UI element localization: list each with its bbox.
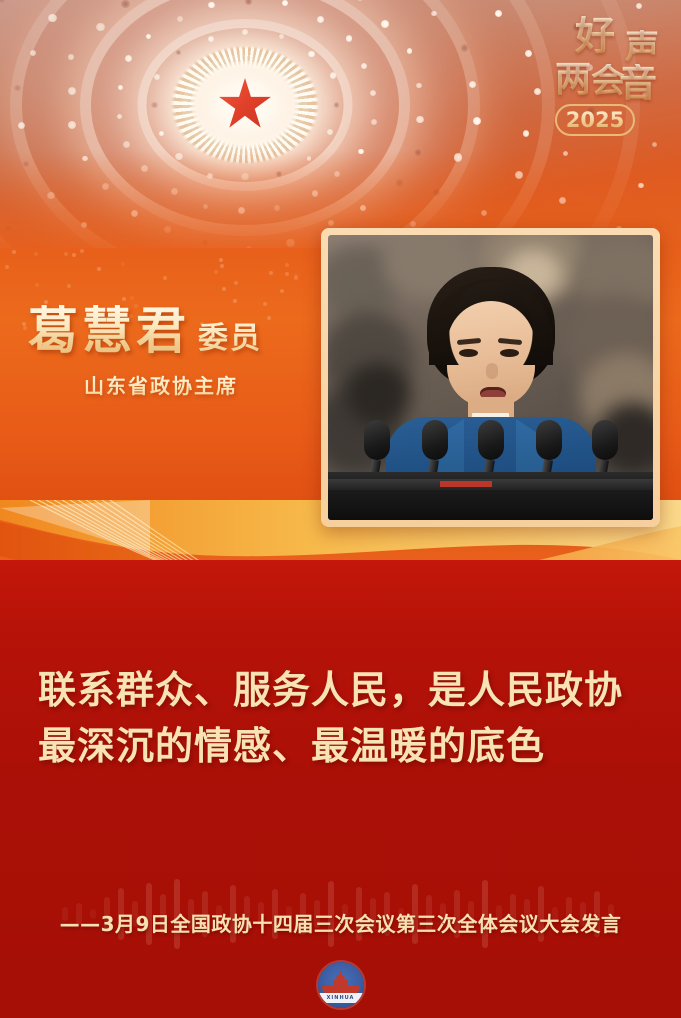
podium-red-accent: [440, 481, 492, 487]
background-speck: [294, 276, 298, 280]
ceiling-light-dot: [125, 55, 133, 63]
ceiling-light-dot: [242, 29, 248, 35]
ceiling-light-dot: [317, 16, 324, 23]
background-speck: [163, 276, 167, 280]
event-caption: ——3月9日全国政协十四届三次会议第三次全体会议大会发言: [0, 908, 681, 937]
ceiling-light-dot: [416, 83, 421, 88]
xinhua-logo-icon: XINHUA: [318, 962, 364, 1008]
ceiling-light-dot: [154, 74, 160, 80]
logo-char-yin: 音: [619, 64, 657, 102]
background-speck: [97, 267, 101, 271]
ceiling-light-dot: [461, 44, 468, 51]
ceiling-light-dot: [48, 14, 56, 22]
background-speck: [67, 284, 71, 288]
ceiling-light-dot: [534, 88, 541, 95]
ceiling-light-dot: [208, 36, 214, 42]
ceiling-light-dot: [159, 131, 164, 136]
background-speck: [285, 263, 289, 267]
logo-year-text: 2025: [566, 108, 624, 132]
ceiling-light-dot: [245, 0, 252, 5]
ceiling-light-dot: [357, 0, 363, 1]
ceiling-light-dot: [279, 34, 284, 39]
ceiling-light-dot: [495, 10, 502, 17]
ceiling-light-dot: [146, 34, 151, 39]
ceiling-light-dot: [346, 35, 353, 42]
background-speck: [5, 265, 9, 269]
ceiling-light-dot: [327, 129, 333, 135]
ceiling-light-dot: [121, 0, 129, 8]
ceiling-light-dot: [151, 102, 158, 109]
background-speck: [285, 272, 289, 276]
ceiling-light-dot: [18, 122, 25, 129]
background-speck: [122, 297, 126, 301]
background-speck: [219, 258, 223, 262]
quote-block: 联系群众、服务人民，是人民政协 最深沉的情感、最温暖的底色: [38, 662, 648, 774]
background-speck: [12, 250, 16, 254]
ceiling-light-dot: [381, 20, 389, 28]
background-speck: [130, 296, 134, 300]
two-sessions-logo: 好 声 两 会 音 2025: [555, 16, 667, 146]
subject-nose: [486, 363, 498, 379]
background-speck: [35, 283, 39, 287]
ceiling-light-dot: [407, 48, 412, 53]
speaker-name: 葛慧君: [28, 305, 190, 358]
ceiling-light-dot: [68, 121, 76, 129]
ceiling-light-dot: [68, 87, 76, 95]
logo-char-liang: 两: [555, 62, 591, 98]
background-speck: [222, 287, 226, 291]
ceiling-light-dot: [416, 116, 423, 123]
ceiling-light-dot: [308, 51, 315, 58]
ceiling-light-dot: [371, 119, 377, 125]
ceiling-light-dot: [361, 63, 367, 69]
subject-eye-left: [459, 349, 478, 357]
background-speck: [64, 252, 68, 256]
ceiling-light-dot: [118, 85, 123, 90]
ceiling-light-dot: [330, 72, 336, 78]
ceiling-light-dot: [30, 50, 36, 56]
logo-year-badge: 2025: [555, 104, 635, 136]
ceiling-light-dot: [96, 23, 104, 31]
ceiling-light-dot: [68, 54, 73, 59]
quote-line-1: 联系群众、服务人民，是人民政协: [38, 662, 648, 718]
ceiling-light-dot: [334, 102, 339, 107]
ceiling-light-dot: [525, 50, 532, 57]
background-speck: [72, 253, 76, 257]
subject-eye-right: [500, 349, 519, 357]
background-speck: [214, 270, 218, 274]
ceiling-light-dot: [370, 90, 376, 96]
background-speck: [269, 271, 273, 275]
background-speck: [233, 299, 237, 303]
background-speck: [121, 262, 125, 266]
ceiling-light-dot: [208, 2, 214, 8]
speaker-photo: [328, 235, 653, 520]
ceiling-light-dot: [177, 16, 183, 22]
ceiling-light-dot: [176, 50, 181, 55]
background-speck: [234, 281, 238, 285]
logo-char-sheng: 声: [625, 30, 659, 64]
background-speck: [34, 252, 38, 256]
speaker-photo-frame: [321, 228, 660, 527]
quote-line-2: 最深沉的情感、最温暖的底色: [38, 718, 648, 774]
ceiling-light-dot: [14, 85, 21, 92]
background-speck: [220, 264, 224, 268]
ceiling-light-dot: [473, 117, 481, 125]
background-speck: [280, 289, 284, 293]
xinhua-logo-text: XINHUA: [318, 993, 364, 1003]
ceiling-light-dot: [117, 114, 122, 119]
ceiling-light-dot: [636, 3, 642, 9]
speaker-name-block: 葛慧君 委员 山东省政协主席: [28, 305, 328, 399]
speaker-position: 山东省政协主席: [84, 370, 328, 399]
ceiling-light-dot: [123, 141, 130, 148]
logo-char-hao: 好: [575, 16, 615, 56]
background-speck: [80, 249, 84, 253]
ceiling-light-dot: [523, 130, 530, 137]
ceiling-light-dot: [282, 0, 288, 6]
ceiling-light-dot: [469, 81, 476, 88]
ceiling-light-dot: [0, 0, 5, 3]
speaker-name-line: 葛慧君 委员: [28, 305, 328, 358]
ceiling-light-dot: [431, 11, 437, 17]
background-speck: [23, 326, 27, 330]
poster-root: 好 声 两 会 音 2025 葛慧君 委员 山东省政协主席: [0, 0, 681, 1018]
speaker-role: 委员: [198, 313, 262, 357]
